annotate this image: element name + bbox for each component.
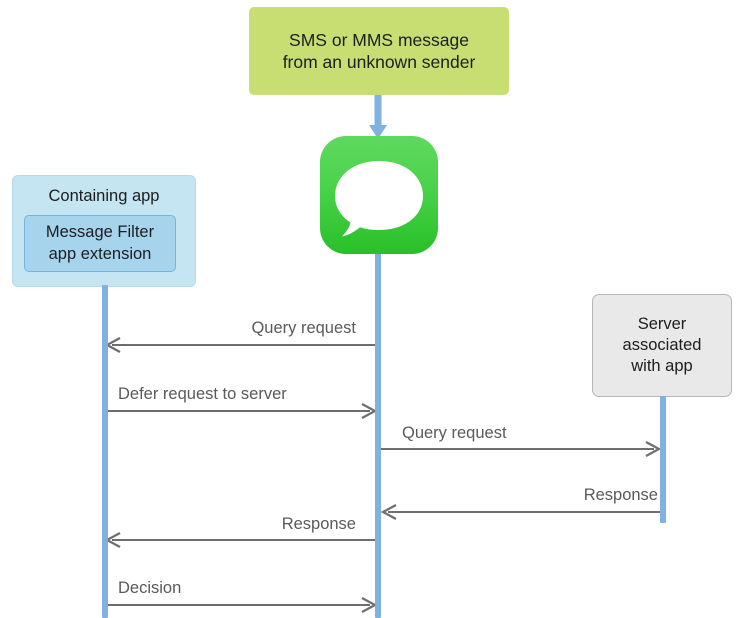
lifeline-server [660, 396, 666, 523]
message-source-line2: from an unknown sender [283, 52, 476, 72]
message-label-response-to-extension: Response [104, 515, 356, 534]
message-delivery-arrow [367, 95, 389, 140]
message-source-text: SMS or MMS message from an unknown sende… [283, 29, 476, 74]
message-label-query-request-to-extension: Query request [104, 319, 356, 338]
message-arrow-response-from-server [380, 505, 662, 519]
message-label-response-from-server: Response [404, 486, 658, 505]
message-filter-extension-text: Message Filter app extension [46, 222, 154, 264]
sequence-diagram: SMS or MMS message from an unknown sende… [0, 0, 740, 618]
message-arrow-decision [104, 598, 378, 612]
message-arrow-query-request-to-extension [104, 338, 378, 352]
message-source-line1: SMS or MMS message [289, 30, 469, 50]
message-label-decision: Decision [118, 579, 378, 598]
lifeline-containing-app [102, 285, 108, 618]
message-label-defer-request-to-server: Defer request to server [118, 385, 378, 404]
filter-extension-line2: app extension [46, 244, 154, 265]
server-line3: with app [631, 357, 692, 375]
message-source-box: SMS or MMS message from an unknown sende… [249, 7, 509, 95]
server-box: Server associated with app [592, 294, 732, 397]
server-text: Server associated with app [623, 314, 702, 377]
message-label-query-request-to-server: Query request [402, 424, 658, 443]
containing-app-label: Containing app [13, 186, 195, 207]
filter-extension-line1: Message Filter [46, 222, 154, 243]
message-arrow-response-to-extension [104, 533, 378, 547]
messages-app-icon [320, 136, 438, 254]
server-line1: Server [638, 315, 687, 333]
message-arrow-query-request-to-server [380, 442, 662, 456]
message-filter-extension-box: Message Filter app extension [24, 215, 176, 272]
server-line2: associated [623, 336, 702, 354]
message-arrow-defer-request-to-server [104, 404, 378, 418]
